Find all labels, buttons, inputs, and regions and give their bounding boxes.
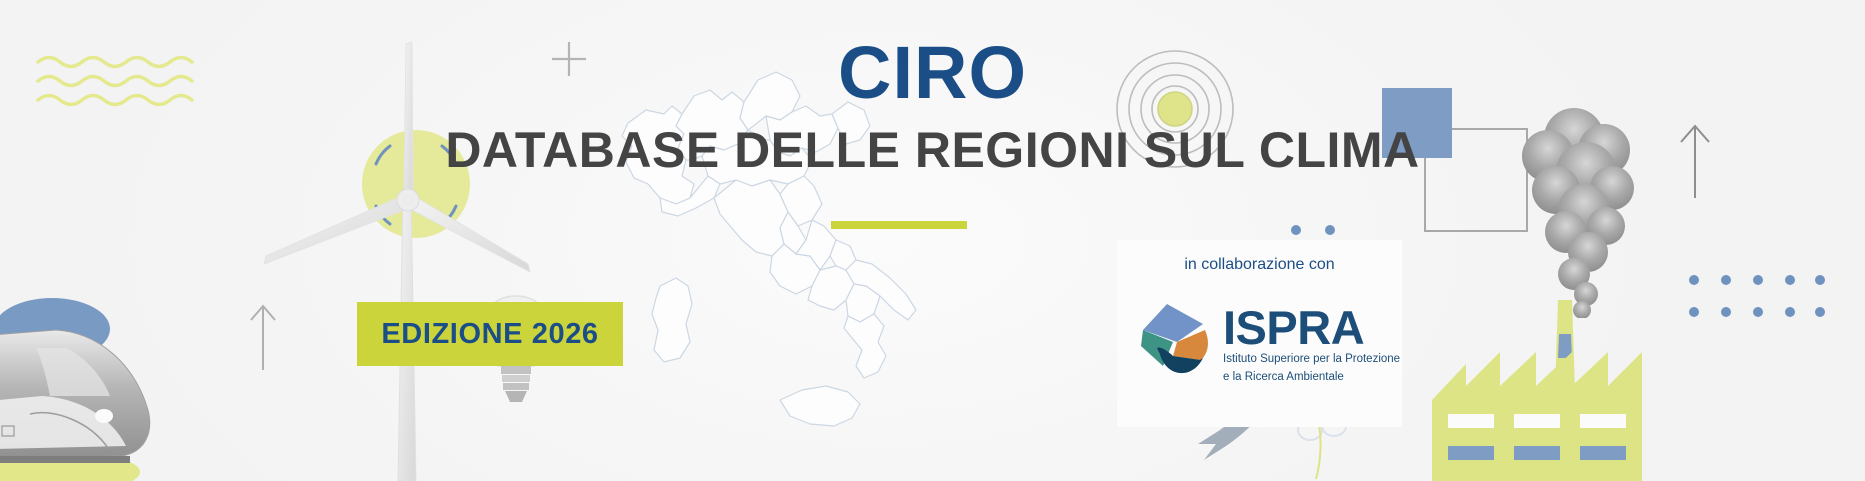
page-title-acronym: CIRO — [0, 36, 1865, 110]
page-subtitle: DATABASE DELLE REGIONI SUL CLIMA — [0, 125, 1865, 175]
ciro-hero-banner: CIRO DATABASE DELLE REGIONI SUL CLIMA ED… — [0, 0, 1865, 481]
ispra-logo-row: ISPRA Istituto Superiore per la Protezio… — [1137, 302, 1400, 384]
ispra-logo-mark-icon — [1137, 302, 1213, 380]
ispra-subtitle-line-1: Istituto Superiore per la Protezione — [1223, 352, 1400, 366]
ispra-logo-text: ISPRA Istituto Superiore per la Protezio… — [1223, 302, 1400, 384]
partner-logo-card: in collaborazione con ISPRA Istituto Sup… — [1117, 240, 1402, 427]
edition-badge[interactable]: EDIZIONE 2026 — [357, 302, 623, 366]
title-block: CIRO DATABASE DELLE REGIONI SUL CLIMA — [0, 0, 1865, 250]
title-underline — [831, 221, 967, 229]
edition-badge-label: EDIZIONE 2026 — [381, 318, 598, 351]
ispra-subtitle-line-2: e la Ricerca Ambientale — [1223, 370, 1400, 384]
collaboration-label: in collaborazione con — [1117, 256, 1402, 274]
ispra-wordmark: ISPRA — [1223, 306, 1400, 349]
